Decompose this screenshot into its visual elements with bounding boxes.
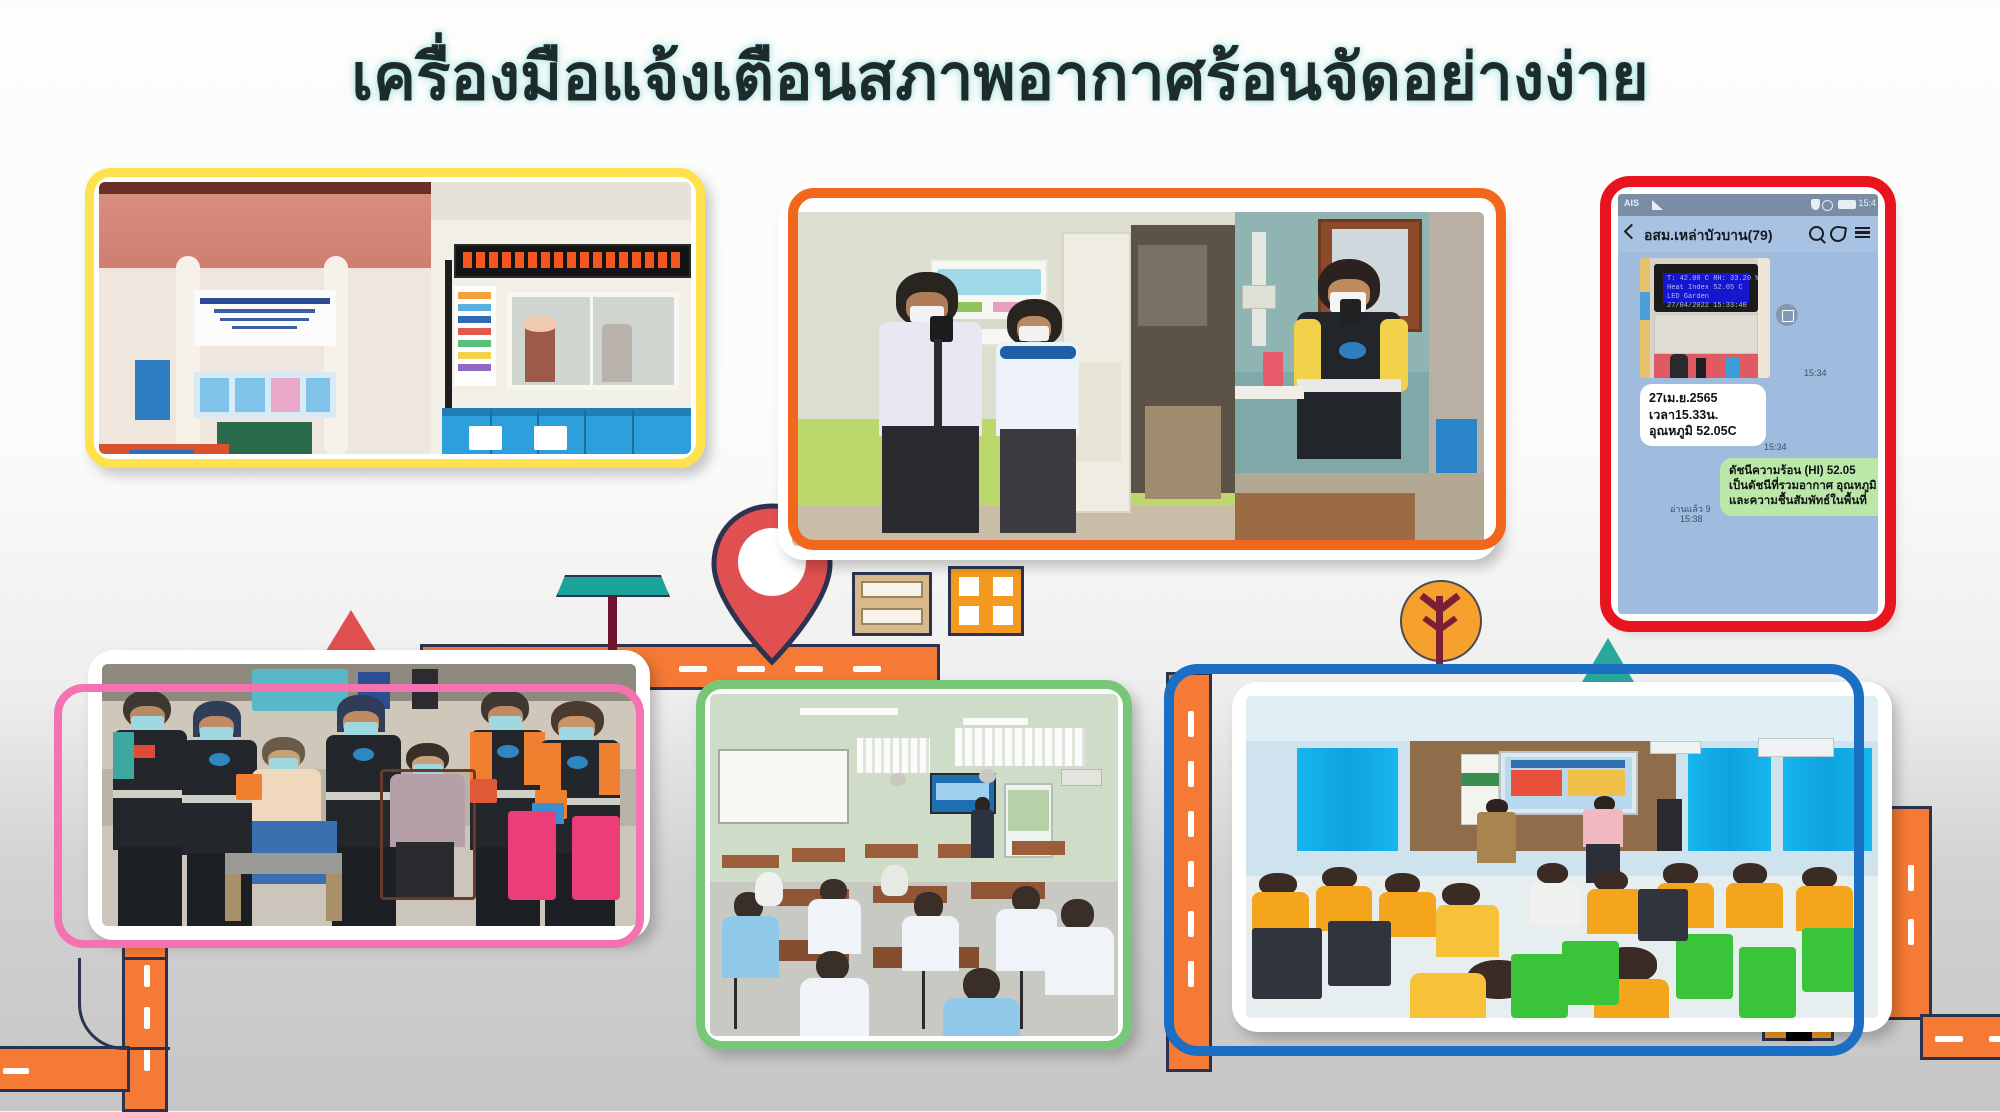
phone-status-bar: AIS 15:4 bbox=[1618, 194, 1878, 216]
signal-bars-icon bbox=[1652, 200, 1663, 210]
photo-card-health-center[interactable] bbox=[85, 168, 705, 468]
back-arrow-icon[interactable] bbox=[1624, 224, 1640, 240]
chat-title: อสม.เหล่าบัวบาน(79) bbox=[1644, 225, 1773, 247]
road-segment-right-vertical bbox=[1166, 672, 1212, 1072]
chat-image-message[interactable]: T: 42.00 C RH: 33.20 % Heat Index 52.05 … bbox=[1640, 258, 1770, 378]
shield-icon bbox=[1811, 199, 1820, 210]
bubble-green-line-1: ดัชนีความร้อน (HI) 52.05 bbox=[1729, 464, 1878, 479]
tree-triangle-teal-icon bbox=[1582, 638, 1634, 682]
device-lcd-display: T: 42.00 C RH: 33.20 % Heat Index 52.05 … bbox=[1654, 264, 1758, 312]
bubble-line-2: เวลา15.33น. bbox=[1649, 407, 1757, 424]
chat-image-timestamp: 15:34 bbox=[1804, 368, 1827, 378]
phone-screen: AIS 15:4 อสม.เหล่าบัวบาน(79) bbox=[1618, 194, 1878, 614]
status-time: 15:4 bbox=[1858, 198, 1876, 208]
carrier-label: AIS bbox=[1624, 198, 1639, 208]
photo-home-visit bbox=[102, 664, 636, 926]
chat-header: อสม.เหล่าบัวบาน(79) bbox=[1618, 216, 1878, 252]
search-icon[interactable] bbox=[1809, 226, 1824, 241]
road-segment-far-right-horizontal bbox=[1920, 1014, 2000, 1060]
hamburger-menu-icon[interactable] bbox=[1855, 227, 1870, 238]
lcd-line-3: LED Garden bbox=[1667, 293, 1745, 301]
lcd-line-2: Heat Index 52.05 C bbox=[1667, 284, 1745, 292]
bubble-green-line-3: และความชื้นสัมพัทธ์ในพื้นที่ bbox=[1729, 494, 1878, 509]
battery-icon bbox=[1838, 200, 1856, 209]
lcd-line-4: 27/04/2022 15:33:40 bbox=[1667, 302, 1745, 310]
chat-text-bubble-left[interactable]: 27เม.ย.2565 เวลา15.33น. อุณหภูมิ 52.05C bbox=[1640, 384, 1766, 446]
alarm-icon bbox=[1822, 200, 1833, 211]
photo-card-line-chat[interactable]: AIS 15:4 อสม.เหล่าบัวบาน(79) bbox=[1608, 184, 1888, 624]
road-segment-far-right-vertical bbox=[1886, 806, 1932, 1020]
bubble-line-1: 27เม.ย.2565 bbox=[1649, 390, 1757, 407]
photo-classroom bbox=[710, 694, 1118, 1036]
chat-text-timestamp-left: 15:34 bbox=[1764, 442, 1787, 452]
road-segment-bottom-left-horizontal bbox=[0, 1046, 130, 1092]
lcd-line-1: T: 42.00 C RH: 33.20 % bbox=[1667, 275, 1745, 283]
page-title: เครื่องมือแจ้งเตือนสภาพอากาศร้อนจัดอย่าง… bbox=[0, 26, 2000, 128]
photo-seminar bbox=[1246, 696, 1878, 1018]
share-icon[interactable] bbox=[1776, 304, 1798, 326]
photo-card-classroom[interactable] bbox=[696, 680, 1132, 1050]
bubble-green-line-2: เป็นดัชนีที่รวมอากาศ อุณหภูมิ bbox=[1729, 479, 1878, 494]
road-curve-bottom-left-outer bbox=[78, 958, 170, 1050]
chat-text-timestamp-right: 15:38 bbox=[1680, 514, 1703, 524]
bubble-line-3: อุณหภูมิ 52.05C bbox=[1649, 423, 1757, 440]
photo-students-microphone bbox=[792, 212, 1484, 546]
chat-body: T: 42.00 C RH: 33.20 % Heat Index 52.05 … bbox=[1618, 252, 1878, 614]
poster-canvas: AIS 15:4 อสม.เหล่าบัวบาน(79) bbox=[0, 0, 2000, 1111]
photo-card-home-visit[interactable] bbox=[88, 650, 650, 940]
photo-card-seminar[interactable] bbox=[1232, 682, 1892, 1032]
photo-health-center bbox=[99, 182, 691, 454]
chat-text-bubble-right[interactable]: ดัชนีความร้อน (HI) 52.05 เป็นดัชนีที่รวม… bbox=[1720, 458, 1878, 516]
phone-call-icon[interactable] bbox=[1829, 225, 1847, 243]
photo-card-students-microphone[interactable] bbox=[778, 198, 1498, 560]
